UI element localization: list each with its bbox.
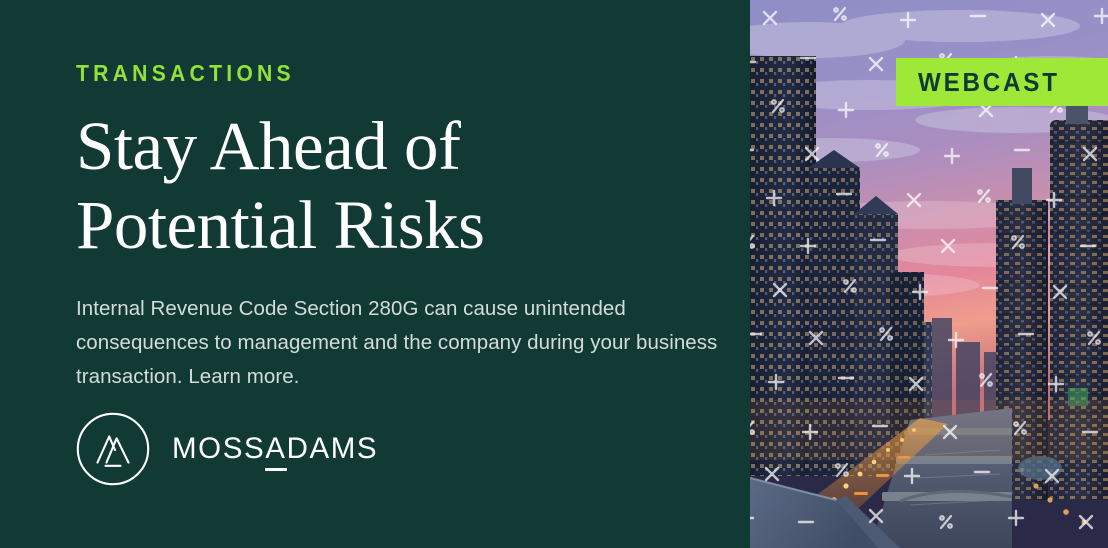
- wordmark-letter-a: A: [265, 434, 286, 464]
- content-panel: TRANSACTIONS Stay Ahead of Potential Ris…: [0, 0, 750, 548]
- moss-adams-wordmark: MOSSADAMS: [172, 434, 378, 464]
- headline-line-1: Stay Ahead of: [76, 107, 750, 186]
- webcast-badge-label: WEBCAST: [918, 69, 1060, 95]
- description-text: Internal Revenue Code Section 280G can c…: [76, 292, 726, 394]
- eyebrow-category-label: TRANSACTIONS: [76, 62, 696, 85]
- moss-adams-mountain-mark-icon: [76, 412, 150, 486]
- page-title: Stay Ahead of Potential Risks: [76, 107, 750, 264]
- webcast-badge: WEBCAST: [896, 58, 1108, 106]
- headline-line-2: Potential Risks: [76, 186, 750, 265]
- moss-adams-logo[interactable]: MOSSADAMS: [76, 412, 378, 486]
- webcast-promo-banner: TRANSACTIONS Stay Ahead of Potential Ris…: [0, 0, 1108, 548]
- wordmark-part-1: MOSS: [172, 432, 265, 465]
- wordmark-part-2: DAMS: [287, 432, 379, 465]
